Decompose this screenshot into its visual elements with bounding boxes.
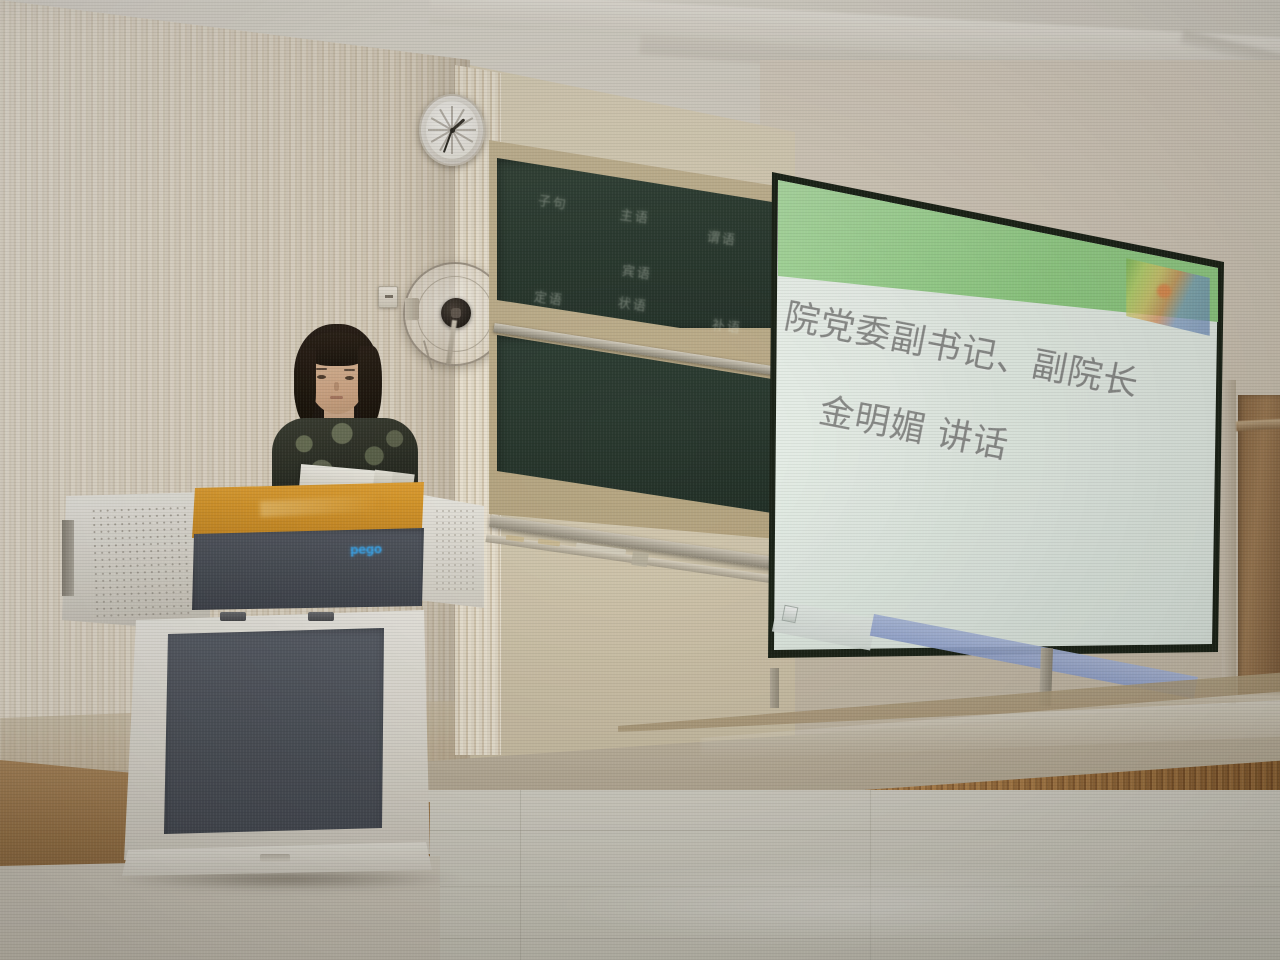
slide-taskbar-icon [782,605,799,623]
eyebrow-left [316,368,327,370]
lectern-front-upper-panel [192,528,424,610]
floor-tile-seam [520,790,521,960]
clock-face [426,101,478,159]
slide-decoration-accent [1157,284,1171,298]
chalk-mark: 补语 [711,314,743,337]
lecture-hall-photo: 子句 主语 谓语 宾语 定语 状语 补语 院党委副书记、副院长 金明媚 讲话 [0,0,1280,960]
eye-right [345,376,354,380]
eyebrow-right [344,369,355,371]
mouth [330,396,343,399]
chalk-mark: 谓语 [706,226,738,249]
lectern-base-handle[interactable] [260,854,290,862]
lectern-hinge[interactable] [308,612,334,621]
clock-center-pin [450,128,455,133]
fan-wall-mount [405,298,419,320]
speaker-grille-left [90,504,190,619]
wall-outlet [378,286,398,308]
wall-clock [419,94,485,166]
chalk-mark: 定语 [533,286,565,309]
hair-side-left [294,348,316,422]
lectern-hinge[interactable] [220,612,246,621]
chalk-mark: 主语 [619,204,651,227]
wooden-door-panel [1238,395,1280,695]
lectern: pego [62,470,482,890]
speaker-grille-right [434,508,474,594]
eye-left [317,375,326,379]
lectern-front-door-panel[interactable] [164,628,384,834]
screen-stand-leg-left [770,668,779,708]
lectern-brand-logo: pego [350,541,413,559]
chalk-mark: 状语 [617,292,649,315]
chalk-mark: 宾语 [621,260,653,283]
chalk-mark: 子句 [537,190,569,213]
lectern-left-edge [62,520,74,596]
fan-hub-center [451,308,461,318]
nose [334,382,339,391]
floor-light-reflection [540,860,1180,950]
hair-side-right [358,346,382,426]
chalk-tray-holder [631,551,649,567]
